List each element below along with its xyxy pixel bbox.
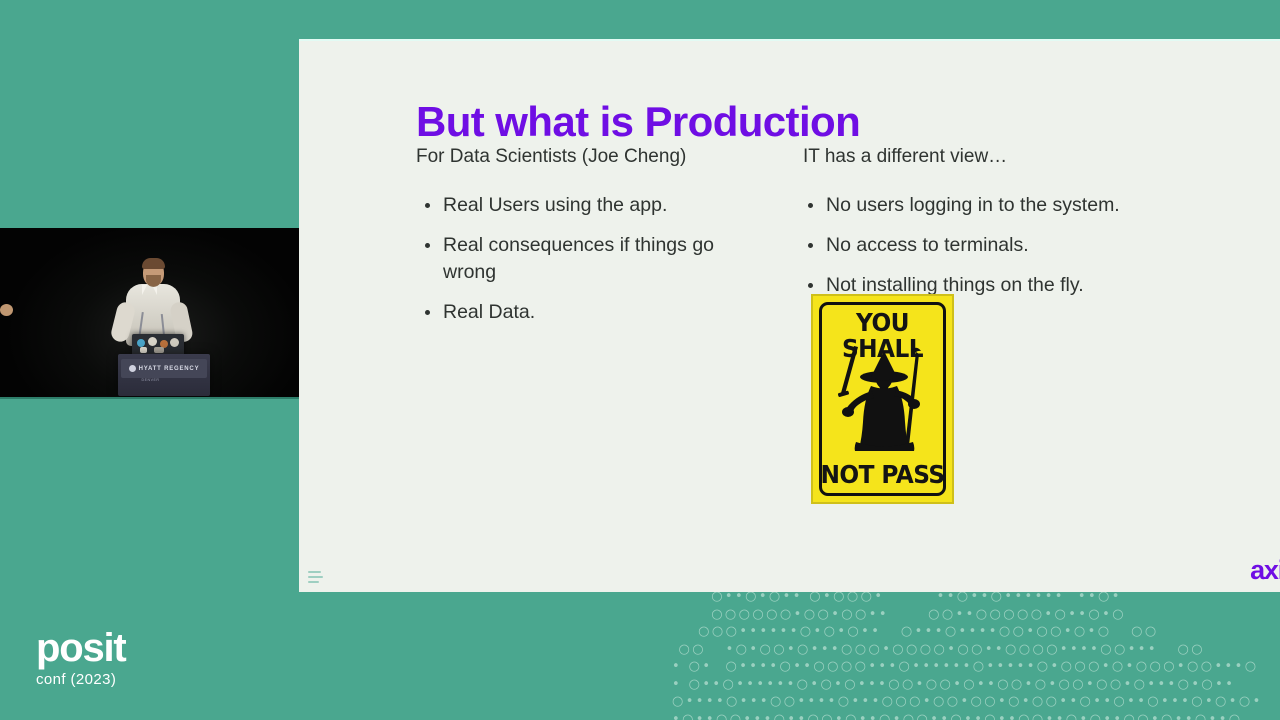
laptop-with-stickers (132, 334, 184, 356)
laptop-sticker (154, 347, 164, 353)
hamburger-menu-icon[interactable] (308, 571, 323, 583)
decorative-dot-pattern: ○••○•○•• ○•○○○• ••○••○•••••• ••○• ○○○○○○… (672, 588, 1280, 720)
laptop-sticker (137, 339, 145, 347)
pattern-row: ○○○••••••○•○•○•• ○•••○••••○○•○○•○•○ ○○ (672, 623, 1280, 641)
you-shall-not-pass-sign: YOU SHALL (811, 294, 954, 504)
slide-top-accent-line (299, 39, 1280, 41)
laptop-sticker (148, 337, 157, 346)
hyatt-logo-icon (129, 365, 136, 372)
pattern-row: ○○○○○○•○○•○○•• ○○••○○○○○•○••○•○ (672, 606, 1280, 624)
pattern-row: ○○ •○•○○•○•••○○○•○○○○•○○••○○○○••••○○••• … (672, 641, 1280, 659)
podium-brand-label: HYATT REGENCY (139, 366, 200, 372)
laptop-sticker (170, 338, 179, 347)
screen-root: ○••○•○•• ○•○○○• ••○••○•••••• ••○• ○○○○○○… (0, 0, 1280, 720)
page-title: But what is Production (416, 97, 860, 147)
list-item: Real Users using the app. (416, 192, 756, 219)
right-column: IT has a different view… No users loggin… (799, 144, 1199, 312)
speaker-video-inset: HYATT REGENCY DENVER (0, 228, 301, 399)
gandalf-silhouette-icon (823, 342, 946, 460)
sign-bottom-text: NOT PASS (818, 462, 947, 488)
posit-wordmark: posit (36, 628, 126, 668)
pattern-row: •○••○○•••○••○○•○••○•○○••○••○••○○••○•○••○… (672, 711, 1280, 720)
list-item: No users logging in to the system. (799, 192, 1199, 219)
pattern-row: • ○• ○••••○••○○○○•••○••••••○•••••○•○○○•○… (672, 658, 1280, 676)
right-bullet-list: No users logging in to the system. No ac… (799, 192, 1199, 299)
presentation-slide: But what is Production For Data Scientis… (299, 39, 1280, 592)
menu-bar (308, 576, 323, 578)
pattern-row: • ○••○••••••○•○•○•••○○•○○•○••○○•○•○○•○○•… (672, 676, 1280, 694)
left-column: For Data Scientists (Joe Cheng) Real Use… (416, 144, 756, 339)
laptop-sticker (140, 347, 147, 353)
podium-location-label: DENVER (0, 378, 301, 382)
left-column-heading: For Data Scientists (Joe Cheng) (416, 144, 756, 170)
menu-bar (308, 581, 319, 583)
speaker-hair (142, 258, 165, 269)
inset-edge-bottom (0, 397, 301, 399)
right-column-heading: IT has a different view… (799, 144, 1199, 170)
axi-brand-logo: axi (1250, 557, 1280, 584)
left-bullet-list: Real Users using the app. Real consequen… (416, 192, 756, 326)
conf-year-label: conf (2023) (36, 671, 126, 689)
pattern-row: ○••••○•••○○••••○•••○○○•○○•○○•○•○○••○••○•… (672, 693, 1280, 711)
podium-nameplate: HYATT REGENCY (121, 359, 207, 378)
list-item: Real consequences if things go wrong (416, 232, 756, 286)
speaker-hand (0, 304, 13, 316)
list-item: Real Data. (416, 299, 756, 326)
slide-ghost-header (417, 42, 1177, 58)
posit-conf-logo: posit conf (2023) (36, 628, 126, 689)
list-item: No access to terminals. (799, 232, 1199, 259)
speaker-collar-left (142, 285, 147, 295)
menu-bar (308, 571, 321, 573)
